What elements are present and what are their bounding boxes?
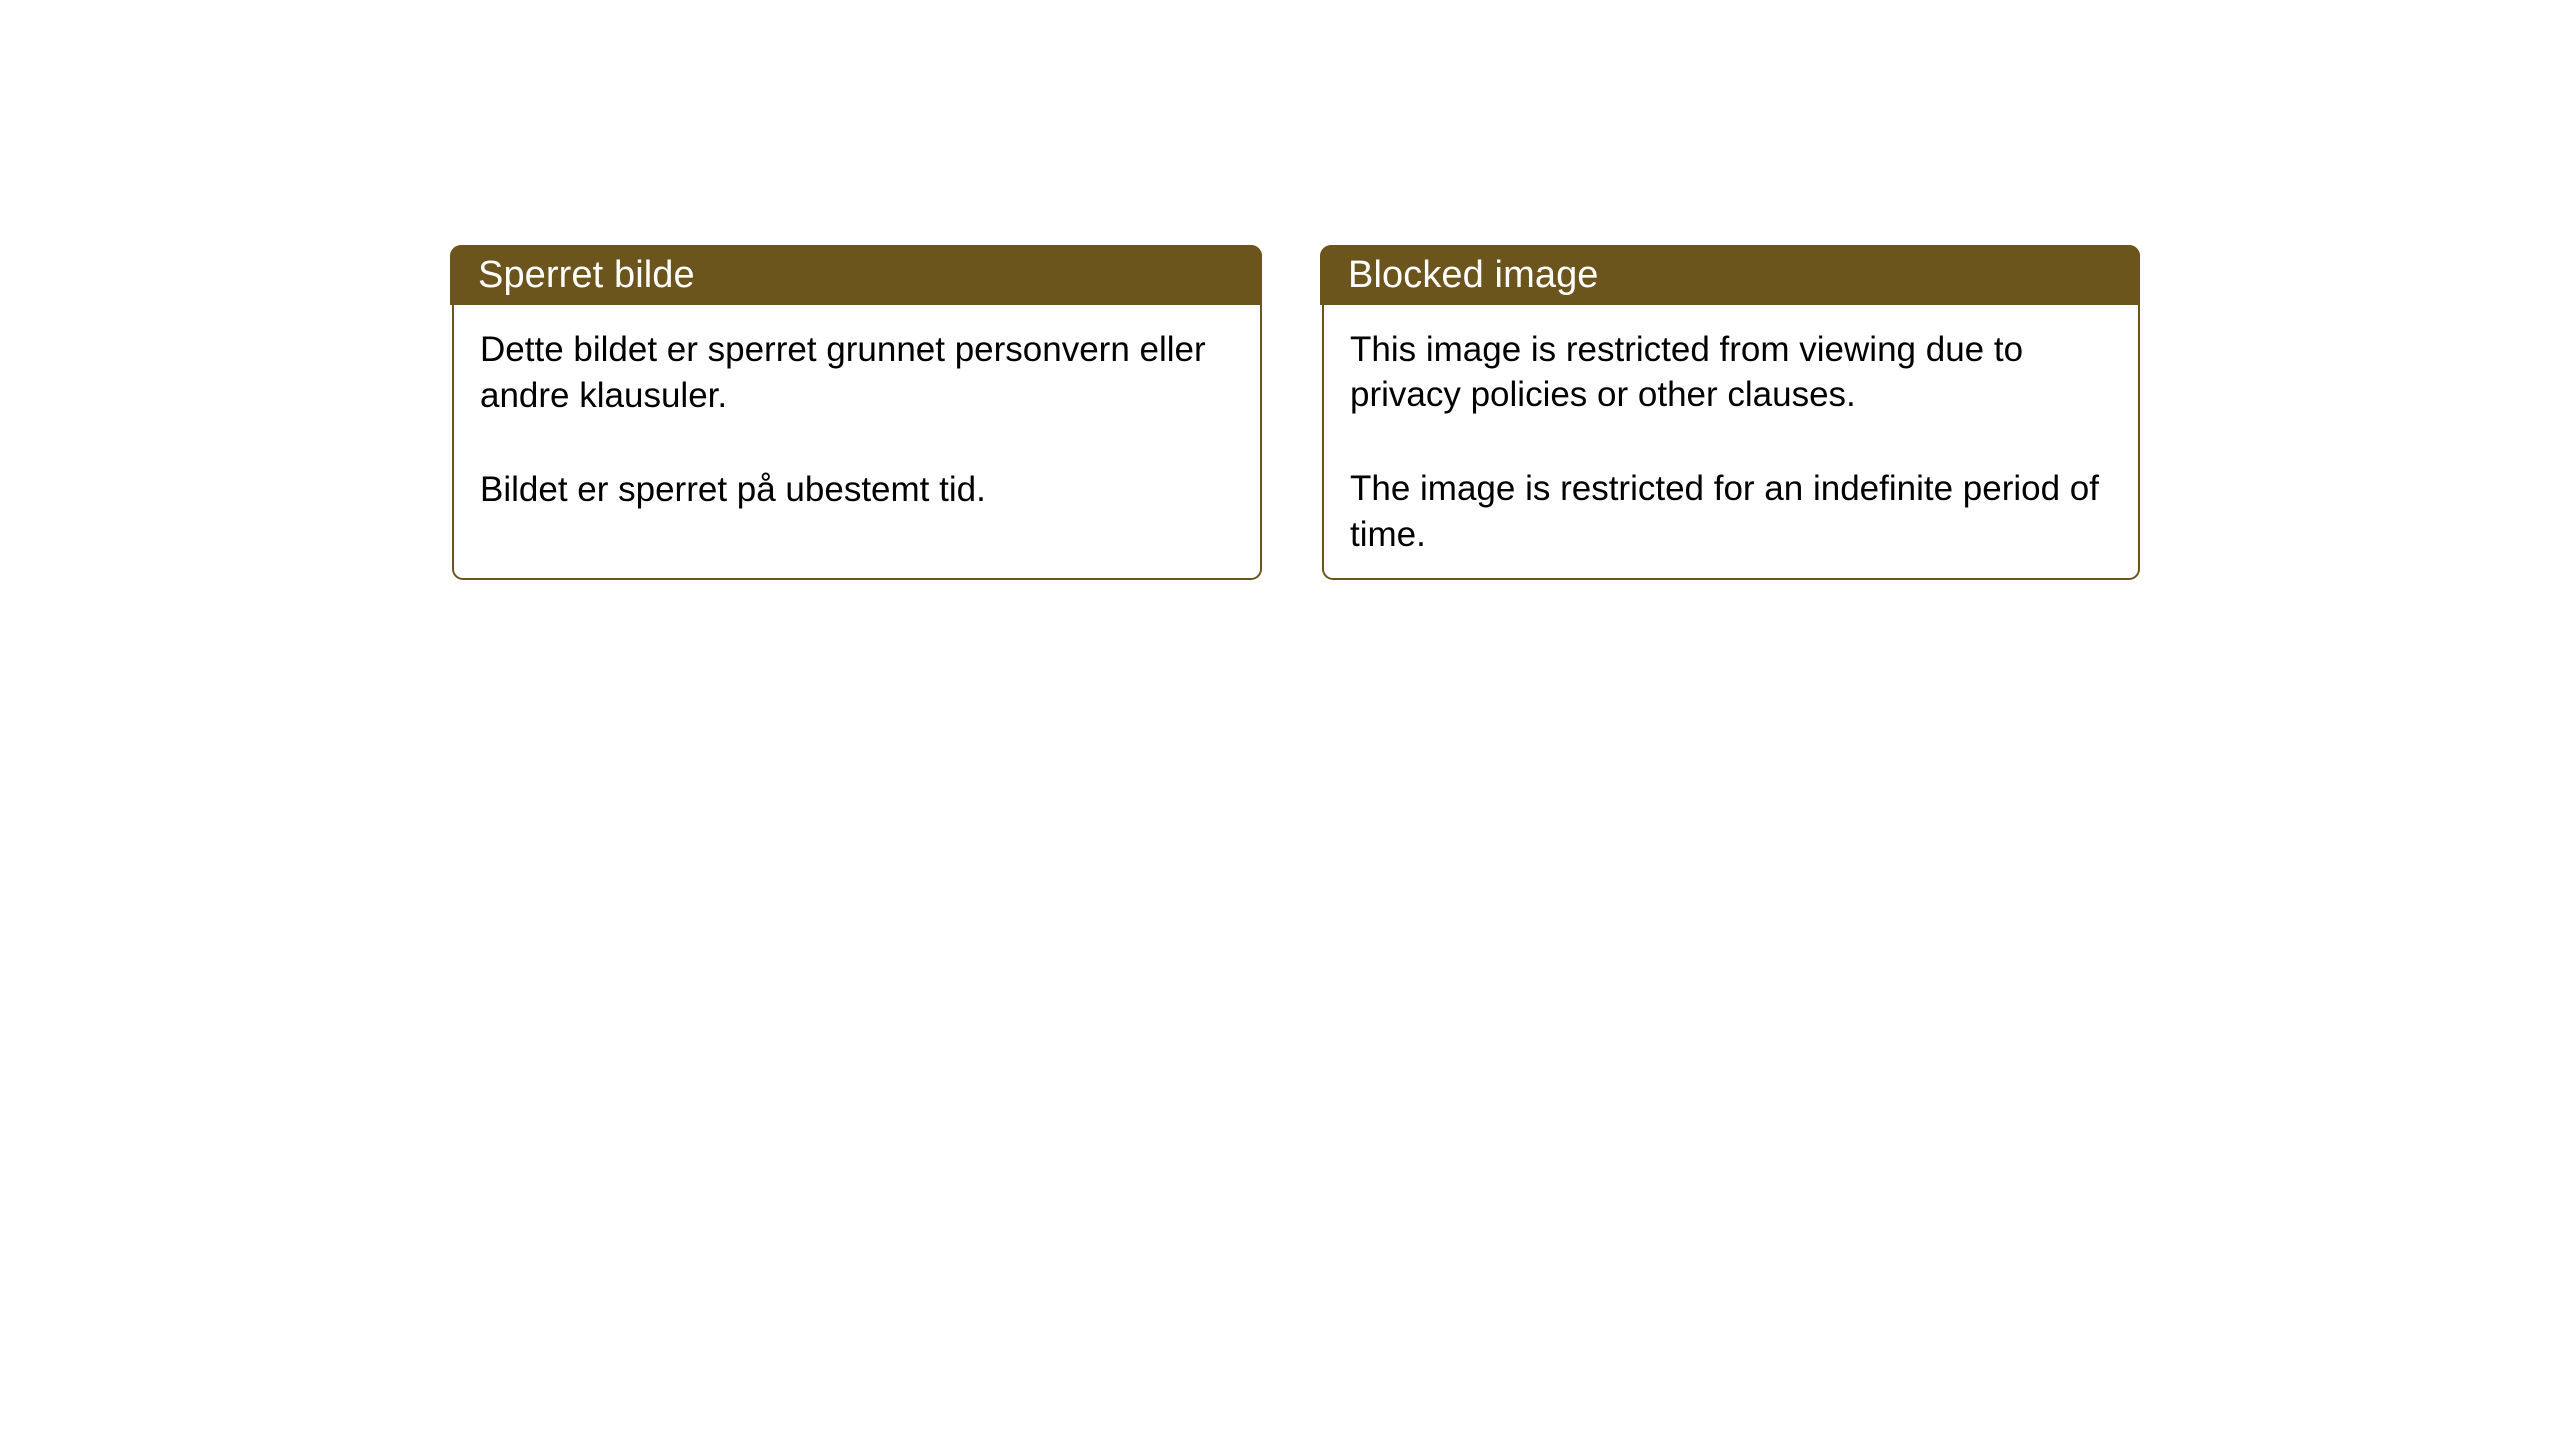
panel-paragraph-norwegian-1: Dette bildet er sperret grunnet personve… [480,327,1234,419]
panel-paragraph-english-1: This image is restricted from viewing du… [1350,327,2110,419]
page-canvas: Sperret bilde Dette bildet er sperret gr… [0,0,2560,1440]
panel-header-norwegian: Sperret bilde [450,245,1262,305]
panel-body-english: This image is restricted from viewing du… [1324,305,2138,578]
blocked-image-panel-norwegian: Sperret bilde Dette bildet er sperret gr… [452,245,1262,580]
blocked-image-panel-english: Blocked image This image is restricted f… [1322,245,2140,580]
blocked-image-notice-group: Sperret bilde Dette bildet er sperret gr… [452,245,2140,580]
panel-title-norwegian: Sperret bilde [478,256,695,294]
panel-body-norwegian: Dette bildet er sperret grunnet personve… [454,305,1260,578]
panel-paragraph-english-2: The image is restricted for an indefinit… [1350,466,2110,558]
panel-paragraph-norwegian-2: Bildet er sperret på ubestemt tid. [480,467,1234,513]
panel-title-english: Blocked image [1348,256,1599,294]
panel-header-english: Blocked image [1320,245,2140,305]
